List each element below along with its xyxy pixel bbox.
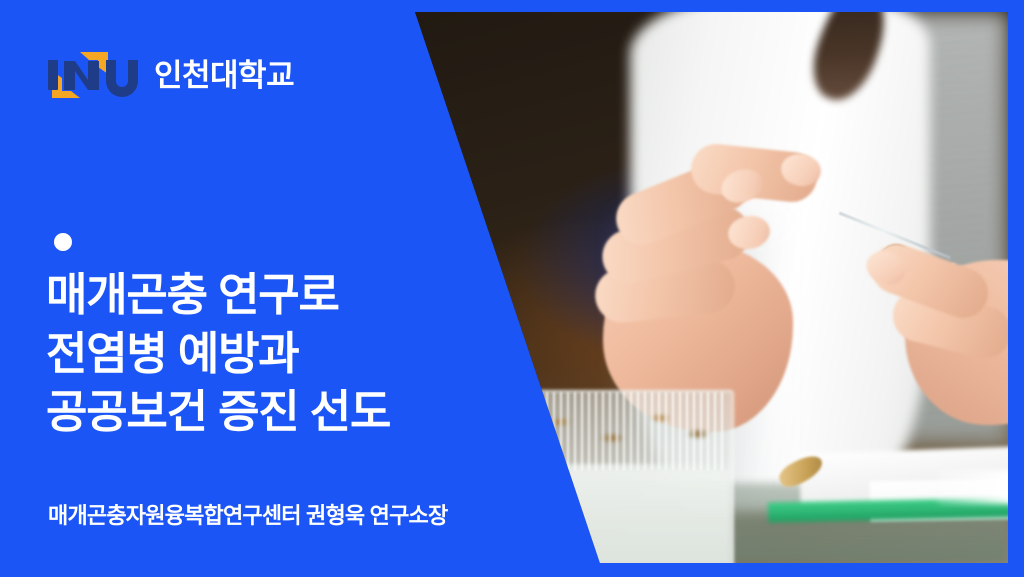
research-photo [380, 12, 1008, 563]
headline-line-1: 매개곤충 연구로 [46, 266, 466, 325]
specimen-jar-pins [532, 392, 728, 470]
university-name: 인천대학교 [154, 60, 294, 91]
bullet-dot-icon [54, 233, 72, 251]
headline-line-2: 전염병 예방과 [46, 325, 466, 384]
headline: 매개곤충 연구로 전염병 예방과 공공보건 증진 선도 [46, 266, 466, 442]
right-hand [850, 202, 1008, 422]
subtitle: 매개곤충자원융복합연구센터 권형욱 연구소장 [48, 498, 447, 530]
desk-glare [936, 470, 1008, 504]
headline-line-3: 공공보건 증진 선도 [46, 383, 466, 442]
inu-logo-icon [44, 46, 138, 104]
photo-background [380, 12, 1008, 563]
university-logo: 인천대학교 [44, 46, 294, 104]
slide-root: 인천대학교 매개곤충 연구로 전염병 예방과 공공보건 증진 선도 매개곤충자원… [0, 0, 1024, 577]
